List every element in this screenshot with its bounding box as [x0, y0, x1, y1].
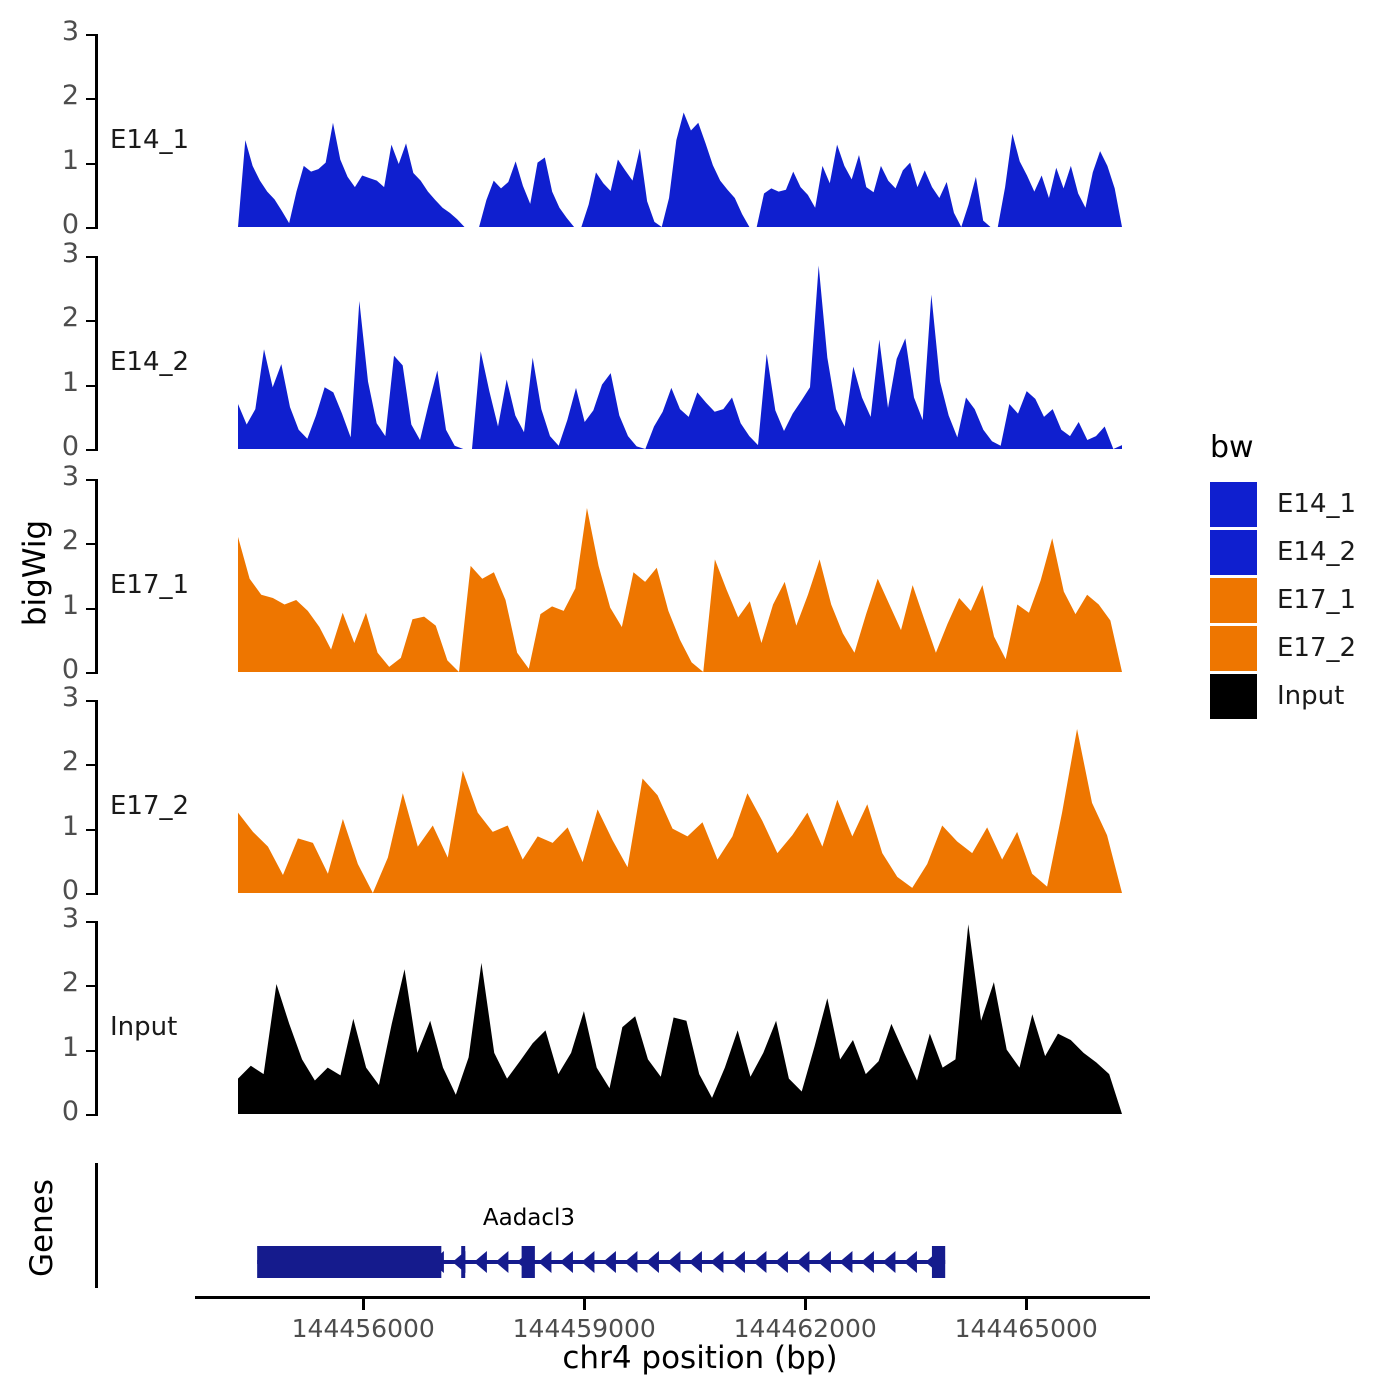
y-axis-tick-label: 1: [35, 590, 79, 621]
strand-arrow: [409, 1251, 422, 1273]
x-axis-title: chr4 position (bp): [0, 1340, 1400, 1376]
y-axis-tick: [86, 1050, 95, 1052]
y-axis-tick-label: 1: [35, 367, 79, 398]
y-axis-tick-label: 1: [35, 145, 79, 176]
y-axis-line: [95, 479, 98, 674]
bigwig-track-e14_2: [0, 0, 1400, 453]
y-axis-tick: [86, 385, 95, 387]
y-axis-tick: [86, 921, 95, 923]
y-axis-tick: [86, 227, 95, 229]
strand-arrow: [452, 1251, 465, 1273]
legend-swatch: [1210, 482, 1257, 527]
strand-arrow: [603, 1251, 616, 1273]
y-axis-tick: [86, 449, 95, 451]
coverage-area: [238, 266, 1122, 449]
strand-arrow: [775, 1251, 788, 1273]
x-axis-tick: [583, 1299, 586, 1310]
strand-arrow: [538, 1251, 551, 1273]
y-axis-tick-label: 0: [35, 1096, 79, 1127]
exon-block: [461, 1246, 465, 1278]
legend: bw E14_1E14_2E17_1E17_2Input: [1210, 430, 1400, 721]
coverage-area: [238, 508, 1122, 672]
y-axis-tick: [86, 893, 95, 895]
x-axis-tick: [1025, 1299, 1028, 1310]
figure-root: bigWig Genes 0123E14_10123E14_20123E17_1…: [0, 0, 1400, 1400]
panel-label-e14_1: E14_1: [110, 125, 189, 155]
y-axis-tick-label: 2: [35, 525, 79, 556]
y-axis-tick: [86, 543, 95, 545]
legend-label: Input: [1277, 681, 1344, 711]
y-axis-tick: [86, 256, 95, 258]
y-axis-tick: [86, 985, 95, 987]
x-axis-line: [195, 1296, 1150, 1299]
x-axis-tick-label: 144459000: [484, 1314, 684, 1343]
y-axis-line: [95, 700, 98, 895]
x-axis-tick-label: 144465000: [926, 1314, 1126, 1343]
panel-label-input: Input: [110, 1012, 177, 1042]
coverage-area: [238, 112, 1122, 227]
y-axis-line: [95, 921, 98, 1116]
panel-label-e17_1: E17_1: [110, 570, 189, 600]
coverage-area: [238, 924, 1122, 1114]
exon-block: [522, 1246, 535, 1278]
strand-arrow: [517, 1251, 530, 1273]
y-axis-tick-label: 3: [35, 682, 79, 713]
intron-line: [257, 1260, 945, 1264]
strand-arrow: [753, 1251, 766, 1273]
strand-arrow: [732, 1251, 745, 1273]
legend-swatch: [1210, 578, 1257, 623]
legend-swatch: [1210, 674, 1257, 719]
y-axis-tick-label: 2: [35, 80, 79, 111]
strand-arrow: [667, 1251, 680, 1273]
y-axis-tick-label: 3: [35, 461, 79, 492]
legend-items: E14_1E14_2E17_1E17_2Input: [1210, 481, 1400, 719]
strand-arrow: [925, 1251, 938, 1273]
y-axis-tick: [86, 163, 95, 165]
y-axis-tick-label: 2: [35, 746, 79, 777]
strand-arrow: [710, 1251, 723, 1273]
y-axis-tick: [86, 34, 95, 36]
legend-item-e17_2[interactable]: E17_2: [1210, 625, 1400, 671]
legend-swatch: [1210, 530, 1257, 575]
coverage-area: [238, 729, 1122, 893]
y-axis-tick-label: 2: [35, 302, 79, 333]
x-axis-tick-label: 144456000: [263, 1314, 463, 1343]
y-axis-tick-label: 1: [35, 1032, 79, 1063]
legend-title: bw: [1210, 430, 1400, 465]
gene-name-label: Aadacl3: [429, 1205, 629, 1231]
bigwig-track-e14_1: [0, 0, 1400, 231]
panel-label-e14_2: E14_2: [110, 347, 189, 377]
strand-arrow: [474, 1251, 487, 1273]
y-axis-tick-label: 3: [35, 16, 79, 47]
bigwig-track-input: [0, 0, 1400, 1118]
y-axis-tick-label: 0: [35, 209, 79, 240]
y-axis-tick: [86, 320, 95, 322]
strand-arrow: [624, 1251, 637, 1273]
strand-arrow: [560, 1251, 573, 1273]
y-axis-title: bigWig: [17, 493, 53, 653]
y-axis-line: [95, 34, 98, 229]
legend-item-e14_2[interactable]: E14_2: [1210, 529, 1400, 575]
y-axis-tick: [86, 98, 95, 100]
strand-arrow: [259, 1251, 272, 1273]
y-axis-tick-label: 3: [35, 238, 79, 269]
strand-arrow: [689, 1251, 702, 1273]
y-axis-tick: [86, 608, 95, 610]
genes-axis-line: [95, 1163, 98, 1288]
y-axis-tick: [86, 1114, 95, 1116]
genes-axis-title: Genes: [24, 1163, 60, 1293]
exon-block: [257, 1246, 441, 1278]
strand-arrow: [495, 1251, 508, 1273]
strand-arrow: [882, 1251, 895, 1273]
legend-label: E17_2: [1277, 633, 1356, 663]
y-axis-tick: [86, 829, 95, 831]
legend-label: E14_2: [1277, 537, 1356, 567]
y-axis-tick-label: 0: [35, 875, 79, 906]
y-axis-tick-label: 0: [35, 654, 79, 685]
y-axis-tick-label: 0: [35, 431, 79, 462]
y-axis-tick-label: 1: [35, 811, 79, 842]
exon-block: [932, 1246, 945, 1278]
strand-arrow: [302, 1251, 315, 1273]
strand-arrow: [431, 1251, 444, 1273]
y-axis-tick: [86, 479, 95, 481]
legend-item-input[interactable]: Input: [1210, 673, 1400, 719]
y-axis-tick-label: 2: [35, 967, 79, 998]
strand-arrow: [280, 1251, 293, 1273]
gene-model: [0, 0, 1400, 1400]
strand-arrow: [646, 1251, 659, 1273]
bigwig-track-e17_1: [0, 0, 1400, 676]
y-axis-tick: [86, 700, 95, 702]
strand-arrow: [388, 1251, 401, 1273]
y-axis-line: [95, 256, 98, 451]
strand-arrow: [323, 1251, 336, 1273]
x-axis-tick: [804, 1299, 807, 1310]
legend-item-e17_1[interactable]: E17_1: [1210, 577, 1400, 623]
legend-swatch: [1210, 626, 1257, 671]
strand-arrow: [861, 1251, 874, 1273]
legend-item-e14_1[interactable]: E14_1: [1210, 481, 1400, 527]
bigwig-track-e17_2: [0, 0, 1400, 897]
legend-label: E17_1: [1277, 585, 1356, 615]
strand-arrow: [366, 1251, 379, 1273]
strand-arrow: [904, 1251, 917, 1273]
x-axis-tick: [362, 1299, 365, 1310]
x-axis-tick-label: 144462000: [705, 1314, 905, 1343]
y-axis-tick-label: 3: [35, 903, 79, 934]
y-axis-tick: [86, 764, 95, 766]
panel-label-e17_2: E17_2: [110, 791, 189, 821]
strand-arrow: [818, 1251, 831, 1273]
strand-arrow: [345, 1251, 358, 1273]
strand-arrow: [796, 1251, 809, 1273]
strand-arrow: [839, 1251, 852, 1273]
legend-label: E14_1: [1277, 489, 1356, 519]
strand-arrow: [581, 1251, 594, 1273]
y-axis-tick: [86, 672, 95, 674]
